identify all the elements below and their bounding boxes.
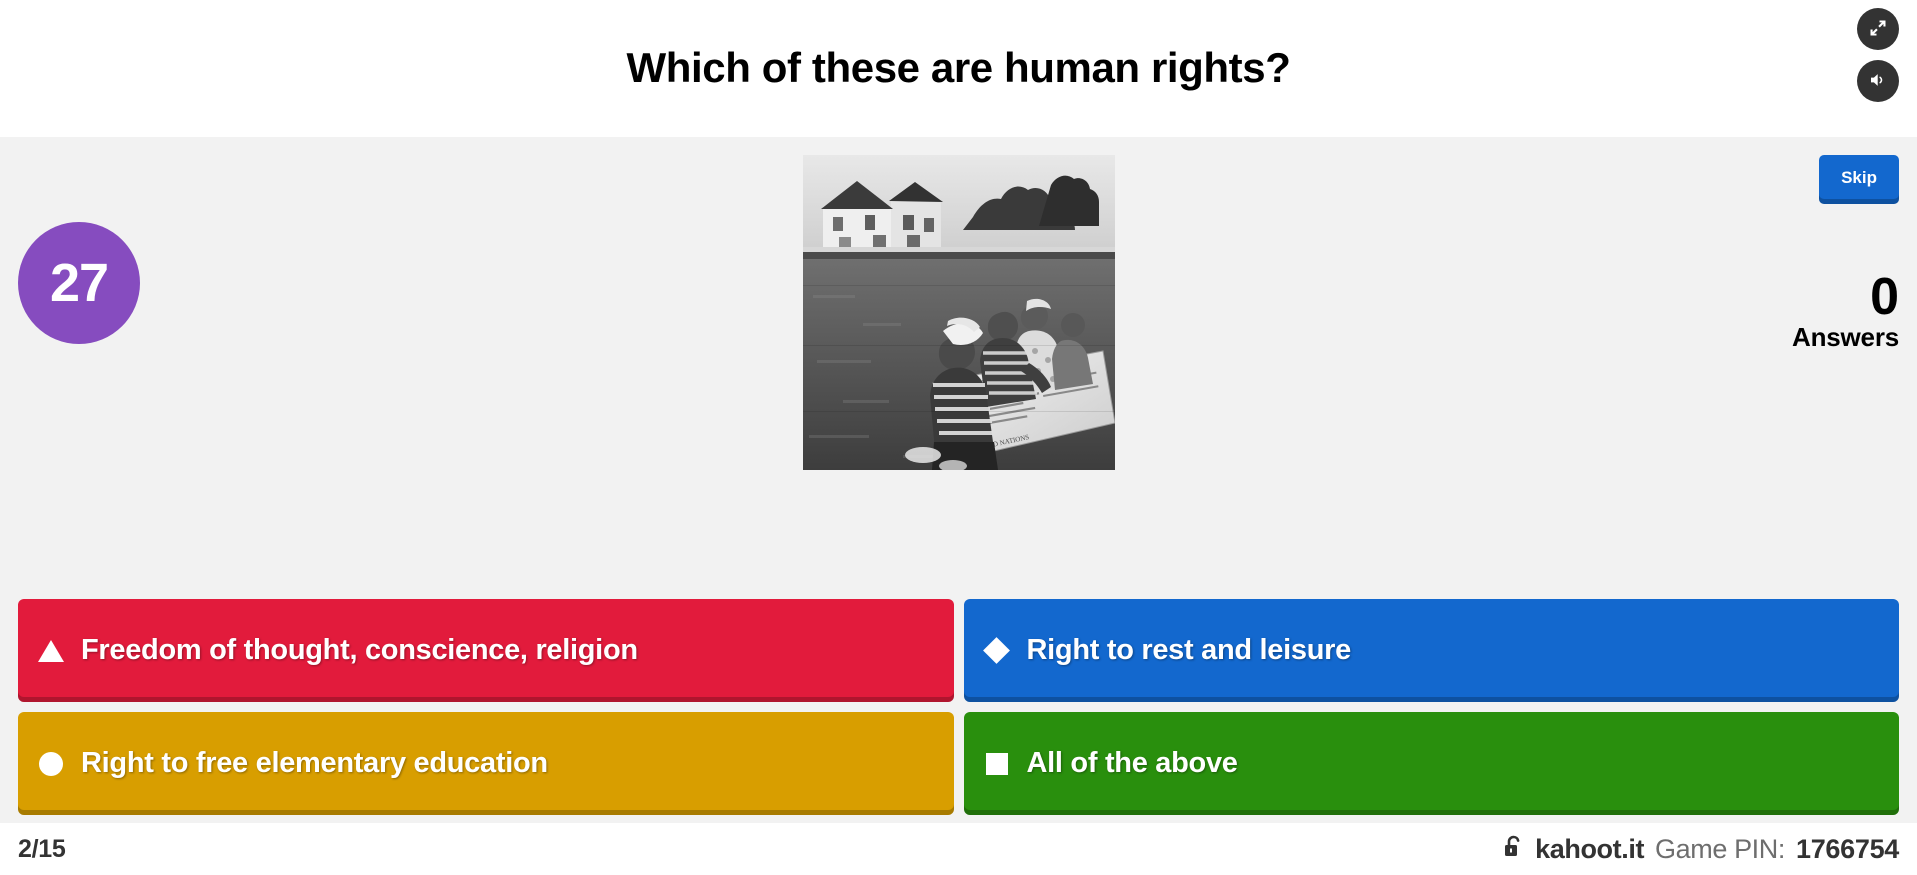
footer-bar: 2/15 kahoot.it Game PIN: 1766754 [0,823,1917,875]
diamond-icon [984,638,1010,664]
brand-label: kahoot.it [1535,834,1644,865]
question-image: Human Rights UNITED NATIONS [803,155,1115,470]
answer-option-label: All of the above [1027,747,1238,780]
square-icon [984,751,1010,777]
sound-toggle-button[interactable] [1857,60,1899,102]
answer-option-green[interactable]: All of the above [964,712,1900,815]
question-stage: 27 [0,137,1917,823]
answers-count: 0 [1792,273,1899,322]
header-controls [1857,8,1899,102]
circle-icon [38,751,64,777]
game-pin-area: kahoot.it Game PIN: 1766754 [1502,834,1899,865]
answer-options: Freedom of thought, conscience, religion… [0,599,1917,823]
fullscreen-expand-icon [1868,18,1888,41]
game-pin-label: Game PIN: [1655,834,1785,865]
page-title: Which of these are human rights? [627,44,1291,92]
answer-option-yellow[interactable]: Right to free elementary education [18,712,954,815]
kahoot-question-screen: Which of these are human rights? [0,0,1917,875]
triangle-icon [38,638,64,664]
skip-button[interactable]: Skip [1819,155,1899,204]
answer-option-red[interactable]: Freedom of thought, conscience, religion [18,599,954,702]
answer-option-label: Right to rest and leisure [1027,634,1351,667]
answers-counter: 0 Answers [1792,273,1899,353]
question-header: Which of these are human rights? [0,0,1917,137]
answer-option-blue[interactable]: Right to rest and leisure [964,599,1900,702]
question-counter: 2/15 [18,835,65,864]
unlocked-padlock-icon [1502,834,1524,865]
answer-option-label: Right to free elementary education [81,747,548,780]
answers-label: Answers [1792,322,1899,353]
fullscreen-button[interactable] [1857,8,1899,50]
answer-option-label: Freedom of thought, conscience, religion [81,634,638,667]
game-pin-value: 1766754 [1796,834,1899,865]
question-media-wrap: Human Rights UNITED NATIONS [0,155,1917,470]
sound-on-icon [1868,70,1888,93]
